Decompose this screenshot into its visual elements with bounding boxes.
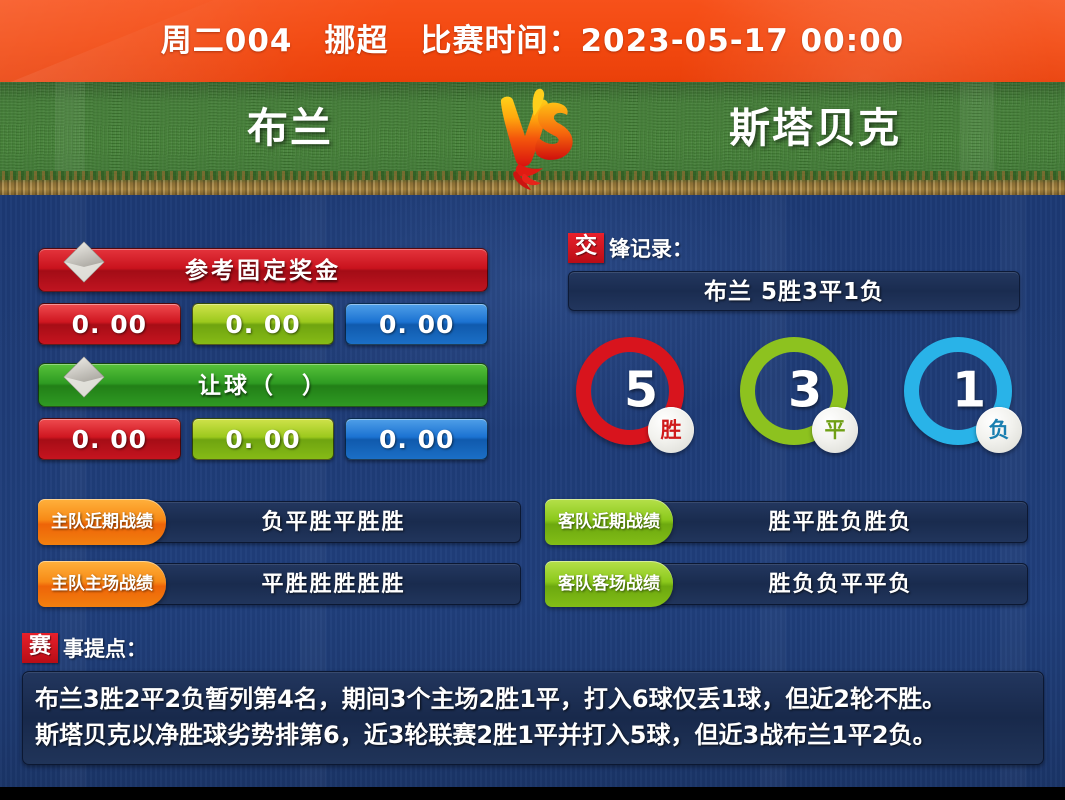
home-venue-tab: 主队主场战绩 [38, 561, 166, 607]
fixed-odd-away[interactable]: 0. 00 [345, 303, 488, 345]
page-title: 周二004 挪超 比赛时间：2023-05-17 00:00 [0, 0, 1065, 82]
home-venue-value: 平胜胜胜胜胜 [146, 563, 521, 605]
head-to-head-section: 交 锋记录： 布兰 5胜3平1负 5 胜 3 平 1 负 [568, 233, 1020, 445]
ring-tag-loss: 负 [976, 407, 1022, 453]
diamond-icon [61, 354, 107, 400]
handicap-odd-home[interactable]: 0. 00 [38, 418, 181, 460]
header-bar: 周二004 挪超 比赛时间：2023-05-17 00:00 [0, 0, 1065, 82]
form-row-recent: 负平胜平胜胜 主队近期战绩 胜平胜负胜负 客队近期战绩 [38, 501, 1028, 543]
h2h-ring-win: 5 胜 [576, 337, 684, 445]
away-venue-tab: 客队客场战绩 [545, 561, 673, 607]
form-row-venue: 平胜胜胜胜胜 主队主场战绩 胜负负平平负 客队客场战绩 [38, 563, 1028, 605]
vs-flame-icon [487, 86, 587, 194]
analysis-heading: 赛 事提点： [22, 633, 1044, 663]
handicap-odd-away[interactable]: 0. 00 [345, 418, 488, 460]
h2h-summary: 布兰 5胜3平1负 [568, 271, 1020, 311]
form-section: 负平胜平胜胜 主队近期战绩 胜平胜负胜负 客队近期战绩 平胜胜胜胜胜 主队主场战… [38, 501, 1028, 625]
ring-tag-win: 胜 [648, 407, 694, 453]
odds-column: 参考固定奖金 0. 00 0. 00 0. 00 让球（ ） [38, 248, 488, 460]
fixed-odd-draw[interactable]: 0. 00 [192, 303, 335, 345]
analysis-badge: 赛 [22, 633, 58, 663]
fixed-odd-home[interactable]: 0. 00 [38, 303, 181, 345]
handicap-odd-draw[interactable]: 0. 00 [192, 418, 335, 460]
fixed-prize-header: 参考固定奖金 [38, 248, 488, 292]
fixed-odds-row: 0. 00 0. 00 0. 00 [38, 303, 488, 345]
bottom-letterbox [0, 787, 1065, 800]
h2h-rings: 5 胜 3 平 1 负 [568, 337, 1020, 445]
analysis-line: 斯塔贝克以净胜球劣势排第6，近3轮联赛2胜1平并打入5球，但近3战布兰1平2负。 [35, 717, 1031, 753]
handicap-odds-row: 0. 00 0. 00 0. 00 [38, 418, 488, 460]
h2h-heading: 交 锋记录： [568, 233, 1020, 263]
h2h-heading-text: 锋记录： [609, 233, 693, 263]
home-recent-tab: 主队近期战绩 [38, 499, 166, 545]
analysis-box: 布兰3胜2平2负暂列第4名，期间3个主场2胜1平，打入6球仅丢1球，但近2轮不胜… [22, 671, 1044, 765]
h2h-ring-draw: 3 平 [740, 337, 848, 445]
away-recent-form: 胜平胜负胜负 客队近期战绩 [545, 501, 1028, 543]
home-recent-form: 负平胜平胜胜 主队近期战绩 [38, 501, 521, 543]
handicap-header: 让球（ ） [38, 363, 488, 407]
away-venue-form: 胜负负平平负 客队客场战绩 [545, 563, 1028, 605]
h2h-ring-loss: 1 负 [904, 337, 1012, 445]
home-venue-form: 平胜胜胜胜胜 主队主场战绩 [38, 563, 521, 605]
ring-tag-draw: 平 [812, 407, 858, 453]
diamond-icon [61, 239, 107, 285]
analysis-line: 布兰3胜2平2负暂列第4名，期间3个主场2胜1平，打入6球仅丢1球，但近2轮不胜… [35, 681, 1031, 717]
away-team-name: 斯塔贝克 [645, 94, 985, 154]
stats-panel: 参考固定奖金 0. 00 0. 00 0. 00 让球（ ） [0, 195, 1065, 787]
home-recent-value: 负平胜平胜胜 [146, 501, 521, 543]
match-preview-card: 周二004 挪超 比赛时间：2023-05-17 00:00 布兰 斯塔贝克 [0, 0, 1065, 800]
away-recent-tab: 客队近期战绩 [545, 499, 673, 545]
analysis-heading-text: 事提点： [63, 633, 147, 663]
analysis-section: 赛 事提点： 布兰3胜2平2负暂列第4名，期间3个主场2胜1平，打入6球仅丢1球… [22, 633, 1044, 765]
away-recent-value: 胜平胜负胜负 [653, 501, 1028, 543]
away-venue-value: 胜负负平平负 [653, 563, 1028, 605]
home-team-name: 布兰 [140, 94, 440, 154]
h2h-badge: 交 [568, 233, 604, 263]
